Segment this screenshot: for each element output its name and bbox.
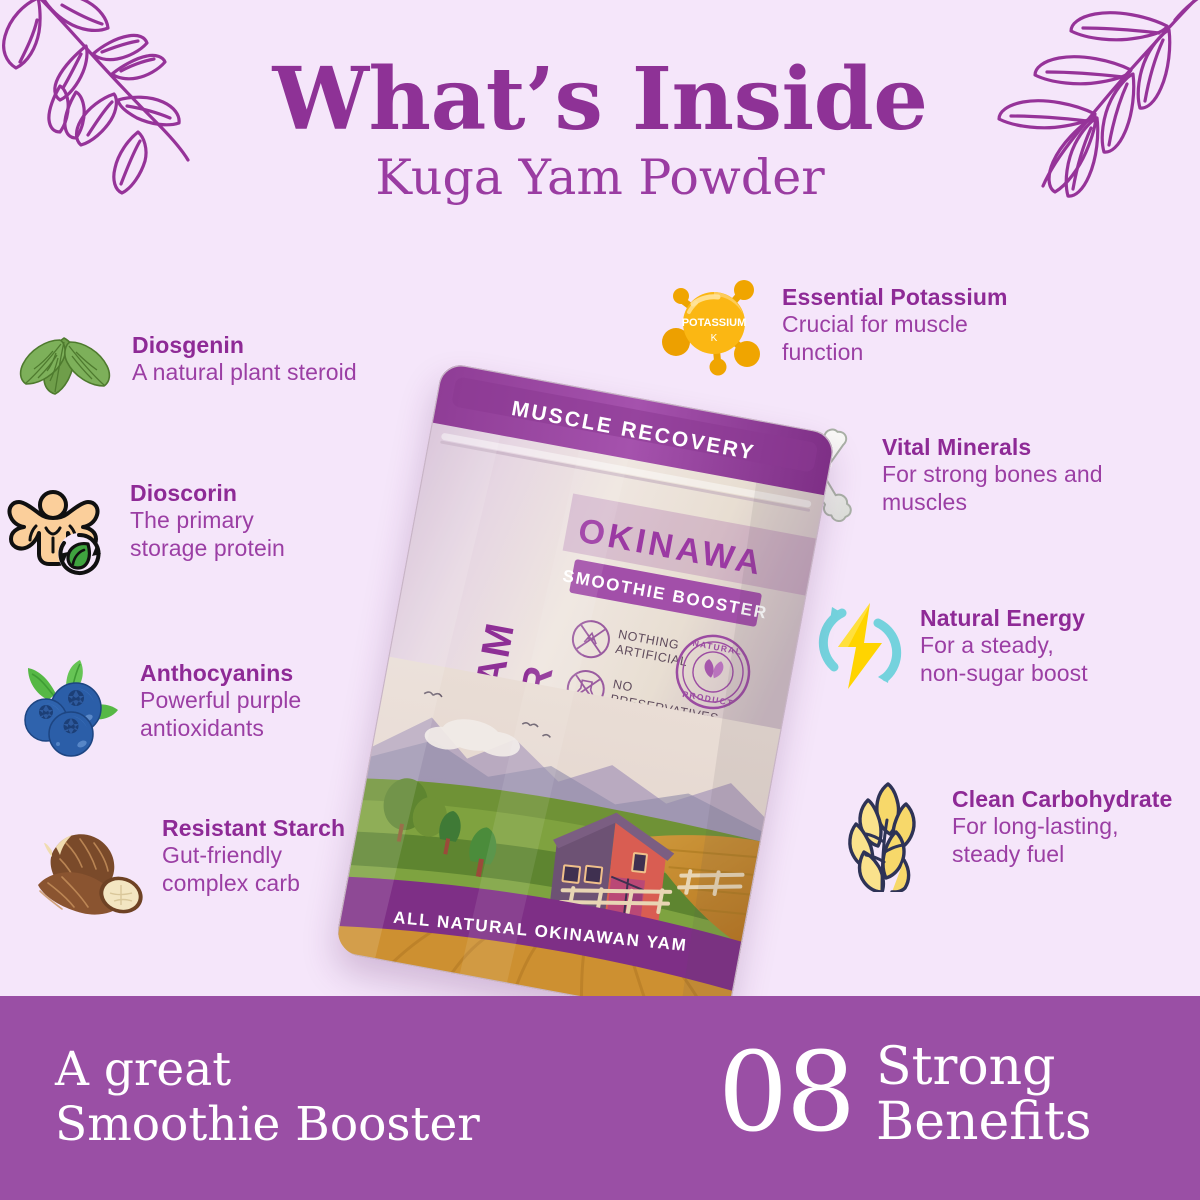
- feature-desc: Crucial for muscle function: [782, 311, 1008, 366]
- feature-clean-carbohydrate: Clean Carbohydrate For long-lasting, ste…: [838, 780, 1200, 892]
- banner-tagline: A great Smoothie Booster: [55, 1042, 480, 1153]
- leaf-icon: [14, 332, 114, 402]
- blueberry-icon: [18, 660, 122, 760]
- banner-benefits: 08 Strong Benefits: [718, 1034, 1092, 1150]
- banner-tagline-line2: Smoothie Booster: [55, 1097, 480, 1152]
- feature-desc: Gut-friendly complex carb: [162, 842, 345, 897]
- feature-desc: A natural plant steroid: [132, 359, 357, 387]
- potassium-symbol: K: [711, 333, 718, 344]
- header: What’s Inside Kuga Yam Powder: [0, 58, 1200, 204]
- potassium-molecule-icon: POTASSIUM K: [660, 270, 768, 378]
- potassium-label: POTASSIUM: [682, 317, 747, 329]
- feature-text: Diosgenin A natural plant steroid: [132, 332, 357, 387]
- wheat-icon: [838, 780, 938, 892]
- page-title: What’s Inside: [0, 58, 1200, 142]
- feature-title: Natural Energy: [920, 605, 1088, 632]
- feature-title: Clean Carbohydrate: [952, 786, 1172, 813]
- feature-desc: For long-lasting, steady fuel: [952, 813, 1172, 868]
- feature-text: Resistant Starch Gut-friendly complex ca…: [162, 815, 345, 897]
- benefit-count: 08: [718, 1037, 854, 1147]
- muscle-icon: [6, 480, 112, 580]
- bottom-banner: A great Smoothie Booster 08 Strong Benef…: [0, 996, 1200, 1200]
- feature-text: Clean Carbohydrate For long-lasting, ste…: [952, 780, 1172, 868]
- feature-title: Essential Potassium: [782, 284, 1008, 311]
- feature-title: Anthocyanins: [140, 660, 301, 687]
- feature-text: Essential Potassium Crucial for muscle f…: [782, 270, 1008, 366]
- feature-essential-potassium: POTASSIUM K Essential Potassium Crucial …: [660, 270, 1180, 378]
- feature-desc: For a steady, non-sugar boost: [920, 632, 1088, 687]
- feature-text: Natural Energy For a steady, non-sugar b…: [920, 597, 1088, 687]
- pouch-artwork: MUSCLE RECOVERY OKINAWA SMOOTHIE BOOSTER…: [334, 362, 837, 1025]
- yam-icon: [22, 815, 150, 921]
- feature-text: Dioscorin The primary storage protein: [130, 480, 285, 562]
- infographic-canvas: What’s Inside Kuga Yam Powder: [0, 0, 1200, 1200]
- page-subtitle: Kuga Yam Powder: [0, 152, 1200, 203]
- benefit-label-line2: Benefits: [876, 1095, 1092, 1150]
- feature-desc: For strong bones and muscles: [882, 461, 1103, 516]
- feature-title: Diosgenin: [132, 332, 357, 359]
- feature-title: Vital Minerals: [882, 434, 1103, 461]
- benefit-label-line1: Strong: [876, 1040, 1092, 1095]
- product-pouch: MUSCLE RECOVERY OKINAWA SMOOTHIE BOOSTER…: [330, 383, 850, 1023]
- feature-title: Dioscorin: [130, 480, 285, 507]
- benefit-label: Strong Benefits: [876, 1034, 1092, 1150]
- feature-desc: The primary storage protein: [130, 507, 285, 562]
- feature-natural-energy: Natural Energy For a steady, non-sugar b…: [812, 597, 1200, 693]
- feature-desc: Powerful purple antioxidants: [140, 687, 301, 742]
- feature-text: Vital Minerals For strong bones and musc…: [882, 424, 1103, 516]
- pouch-body: MUSCLE RECOVERY OKINAWA SMOOTHIE BOOSTER…: [334, 362, 837, 1025]
- feature-title: Resistant Starch: [162, 815, 345, 842]
- feature-text: Anthocyanins Powerful purple antioxidant…: [140, 660, 301, 742]
- banner-tagline-line1: A great: [55, 1042, 480, 1097]
